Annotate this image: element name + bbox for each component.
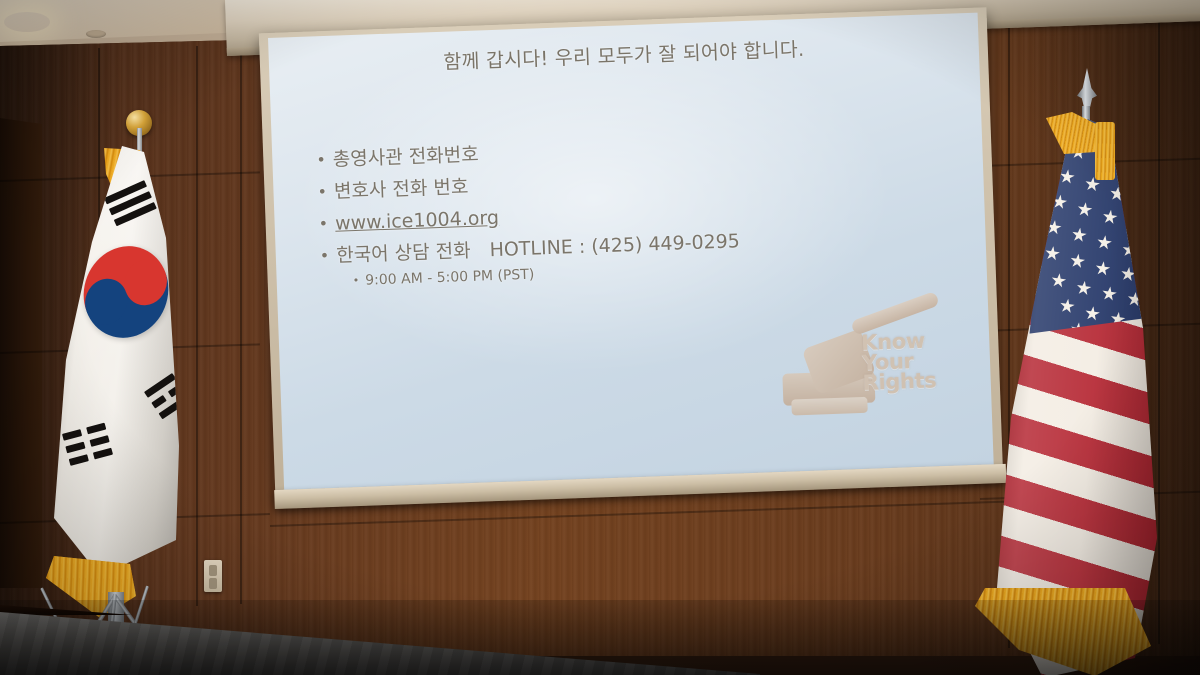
sub-bullet-marker-icon: • (353, 274, 360, 289)
logo-text: Know Your Rights (861, 329, 963, 393)
projection-screen: 함께 갑시다! 우리 모두가 잘 되어야 합니다. • 총영사관 전화번호 • … (268, 13, 994, 493)
hotline-hours: 9:00 AM - 5:00 PM (PST) (365, 268, 535, 289)
logo-line-3: Rights (862, 370, 963, 394)
bullet-marker-icon: • (316, 151, 326, 170)
us-flag-tassel (1095, 122, 1115, 180)
outlet-socket-top (209, 565, 217, 576)
bullet-marker-icon: • (317, 183, 327, 202)
website-link[interactable]: www.ice1004.org (335, 209, 499, 234)
wall-outlet (204, 560, 222, 592)
know-your-rights-logo: Know Your Rights (778, 305, 963, 446)
bullet-text: 한국어 상담 전화 (336, 242, 471, 266)
bullet-marker-icon: • (318, 215, 328, 234)
gavel-block-base-icon (791, 397, 868, 416)
wall-seam-vertical (240, 44, 242, 604)
bullet-text: 변호사 전화 번호 (334, 178, 469, 202)
wall-seam-vertical (196, 46, 198, 606)
bullet-text: 총영사관 전화번호 (333, 146, 479, 170)
presentation-room-scene: 함께 갑시다! 우리 모두가 잘 되어야 합니다. • 총영사관 전화번호 • … (0, 0, 1200, 675)
hotline-number: HOTLINE : (425) 449-0295 (489, 232, 740, 260)
slide-bullet-list: • 총영사관 전화번호 • 변호사 전화 번호 • www.ice1004.or… (316, 128, 961, 290)
recessed-ceiling-light-icon (4, 12, 50, 32)
outlet-socket-bottom (209, 578, 217, 589)
bullet-marker-icon: • (320, 247, 330, 266)
smoke-detector-icon (86, 30, 106, 38)
slide-title: 함께 갑시다! 우리 모두가 잘 되어야 합니다. (269, 27, 980, 81)
slide-surface: 함께 갑시다! 우리 모두가 잘 되어야 합니다. • 총영사관 전화번호 • … (268, 13, 994, 490)
